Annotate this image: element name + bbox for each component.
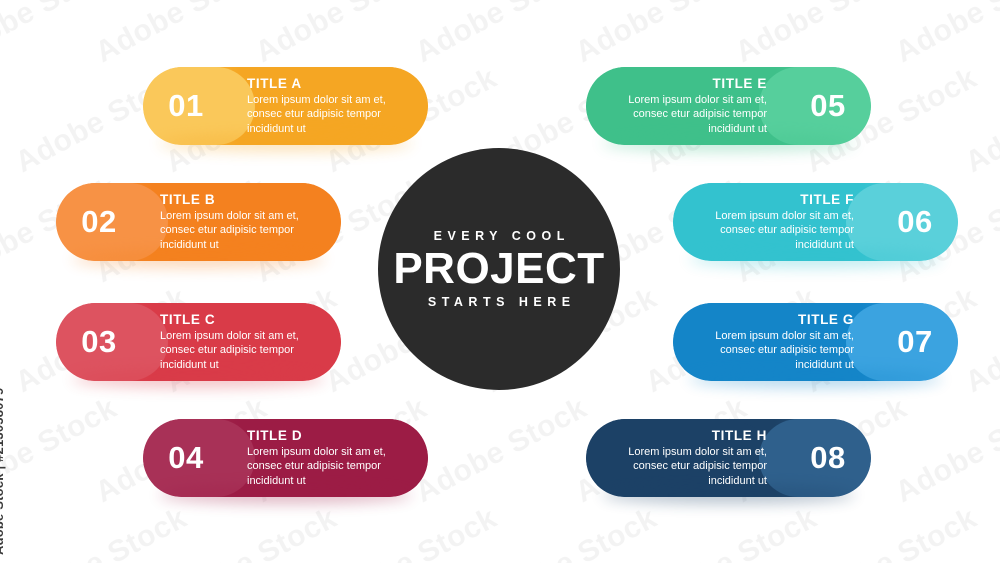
hub-top-line: EVERY COOL	[428, 229, 570, 243]
item-text-block: TITLE FLorem ipsum dolor sit am et, cons…	[689, 183, 854, 261]
item-description: Lorem ipsum dolor sit am et, consec etur…	[247, 93, 412, 137]
watermark-text: Adobe Stock	[0, 391, 123, 510]
watermark-text: Adobe Stock	[0, 0, 123, 70]
item-title: TITLE G	[798, 312, 854, 327]
item-description: Lorem ipsum dolor sit am et, consec etur…	[247, 445, 412, 489]
item-number: 04	[147, 419, 225, 497]
watermark-text: Adobe Stock	[90, 0, 273, 70]
item-title: TITLE E	[713, 76, 767, 91]
item-number: 07	[876, 303, 954, 381]
item-text-block: TITLE HLorem ipsum dolor sit am et, cons…	[602, 419, 767, 497]
item-title: TITLE H	[712, 428, 767, 443]
info-item-05[interactable]: 05TITLE ELorem ipsum dolor sit am et, co…	[586, 67, 871, 145]
item-title: TITLE F	[800, 192, 854, 207]
item-description: Lorem ipsum dolor sit am et, consec etur…	[160, 329, 325, 373]
item-number: 05	[789, 67, 867, 145]
info-item-04[interactable]: 04TITLE DLorem ipsum dolor sit am et, co…	[143, 419, 428, 497]
item-text-block: TITLE DLorem ipsum dolor sit am et, cons…	[247, 419, 412, 497]
item-description: Lorem ipsum dolor sit am et, consec etur…	[602, 445, 767, 489]
item-title: TITLE D	[247, 428, 302, 443]
info-item-01[interactable]: 01TITLE ALorem ipsum dolor sit am et, co…	[143, 67, 428, 145]
watermark-text: Adobe Stock	[960, 501, 1000, 563]
watermark-text: Adobe Stock	[640, 501, 823, 563]
item-number: 01	[147, 67, 225, 145]
watermark-text: Adobe Stock	[480, 501, 663, 563]
watermark-text: Adobe Stock	[890, 391, 1000, 510]
item-title: TITLE C	[160, 312, 215, 327]
watermark-text: Adobe Stock	[250, 0, 433, 70]
item-number: 03	[60, 303, 138, 381]
watermark-text: Adobe Stock	[570, 0, 753, 70]
hub-bottom-line: STARTS HERE	[422, 295, 575, 309]
item-number: 06	[876, 183, 954, 261]
watermark-text: Adobe Stock	[10, 501, 193, 563]
item-title: TITLE A	[247, 76, 302, 91]
watermark-text: Adobe Stock	[960, 61, 1000, 180]
hub-main-line: PROJECT	[393, 246, 604, 292]
item-text-block: TITLE GLorem ipsum dolor sit am et, cons…	[689, 303, 854, 381]
item-number: 08	[789, 419, 867, 497]
watermark-text: Adobe Stock	[160, 501, 343, 563]
watermark-text: Adobe Stock	[320, 501, 503, 563]
info-item-02[interactable]: 02TITLE BLorem ipsum dolor sit am et, co…	[56, 183, 341, 261]
center-hub: EVERY COOL PROJECT STARTS HERE	[378, 148, 620, 390]
item-description: Lorem ipsum dolor sit am et, consec etur…	[689, 209, 854, 253]
info-item-06[interactable]: 06TITLE FLorem ipsum dolor sit am et, co…	[673, 183, 958, 261]
info-item-07[interactable]: 07TITLE GLorem ipsum dolor sit am et, co…	[673, 303, 958, 381]
watermark-text: Adobe Stock	[410, 391, 593, 510]
item-title: TITLE B	[160, 192, 215, 207]
item-text-block: TITLE BLorem ipsum dolor sit am et, cons…	[160, 183, 325, 261]
item-description: Lorem ipsum dolor sit am et, consec etur…	[689, 329, 854, 373]
infographic-canvas: Adobe StockAdobe StockAdobe StockAdobe S…	[0, 0, 1000, 563]
item-text-block: TITLE ELorem ipsum dolor sit am et, cons…	[602, 67, 767, 145]
item-text-block: TITLE ALorem ipsum dolor sit am et, cons…	[247, 67, 412, 145]
stock-id-watermark: Adobe Stock | #213058079	[0, 388, 6, 555]
info-item-08[interactable]: 08TITLE HLorem ipsum dolor sit am et, co…	[586, 419, 871, 497]
item-number: 02	[60, 183, 138, 261]
item-description: Lorem ipsum dolor sit am et, consec etur…	[602, 93, 767, 137]
info-item-03[interactable]: 03TITLE CLorem ipsum dolor sit am et, co…	[56, 303, 341, 381]
item-text-block: TITLE CLorem ipsum dolor sit am et, cons…	[160, 303, 325, 381]
watermark-text: Adobe Stock	[410, 0, 593, 70]
watermark-text: Adobe Stock	[960, 281, 1000, 400]
watermark-text: Adobe Stock	[730, 0, 913, 70]
watermark-text: Adobe Stock	[890, 0, 1000, 70]
watermark-text: Adobe Stock	[800, 501, 983, 563]
item-description: Lorem ipsum dolor sit am et, consec etur…	[160, 209, 325, 253]
